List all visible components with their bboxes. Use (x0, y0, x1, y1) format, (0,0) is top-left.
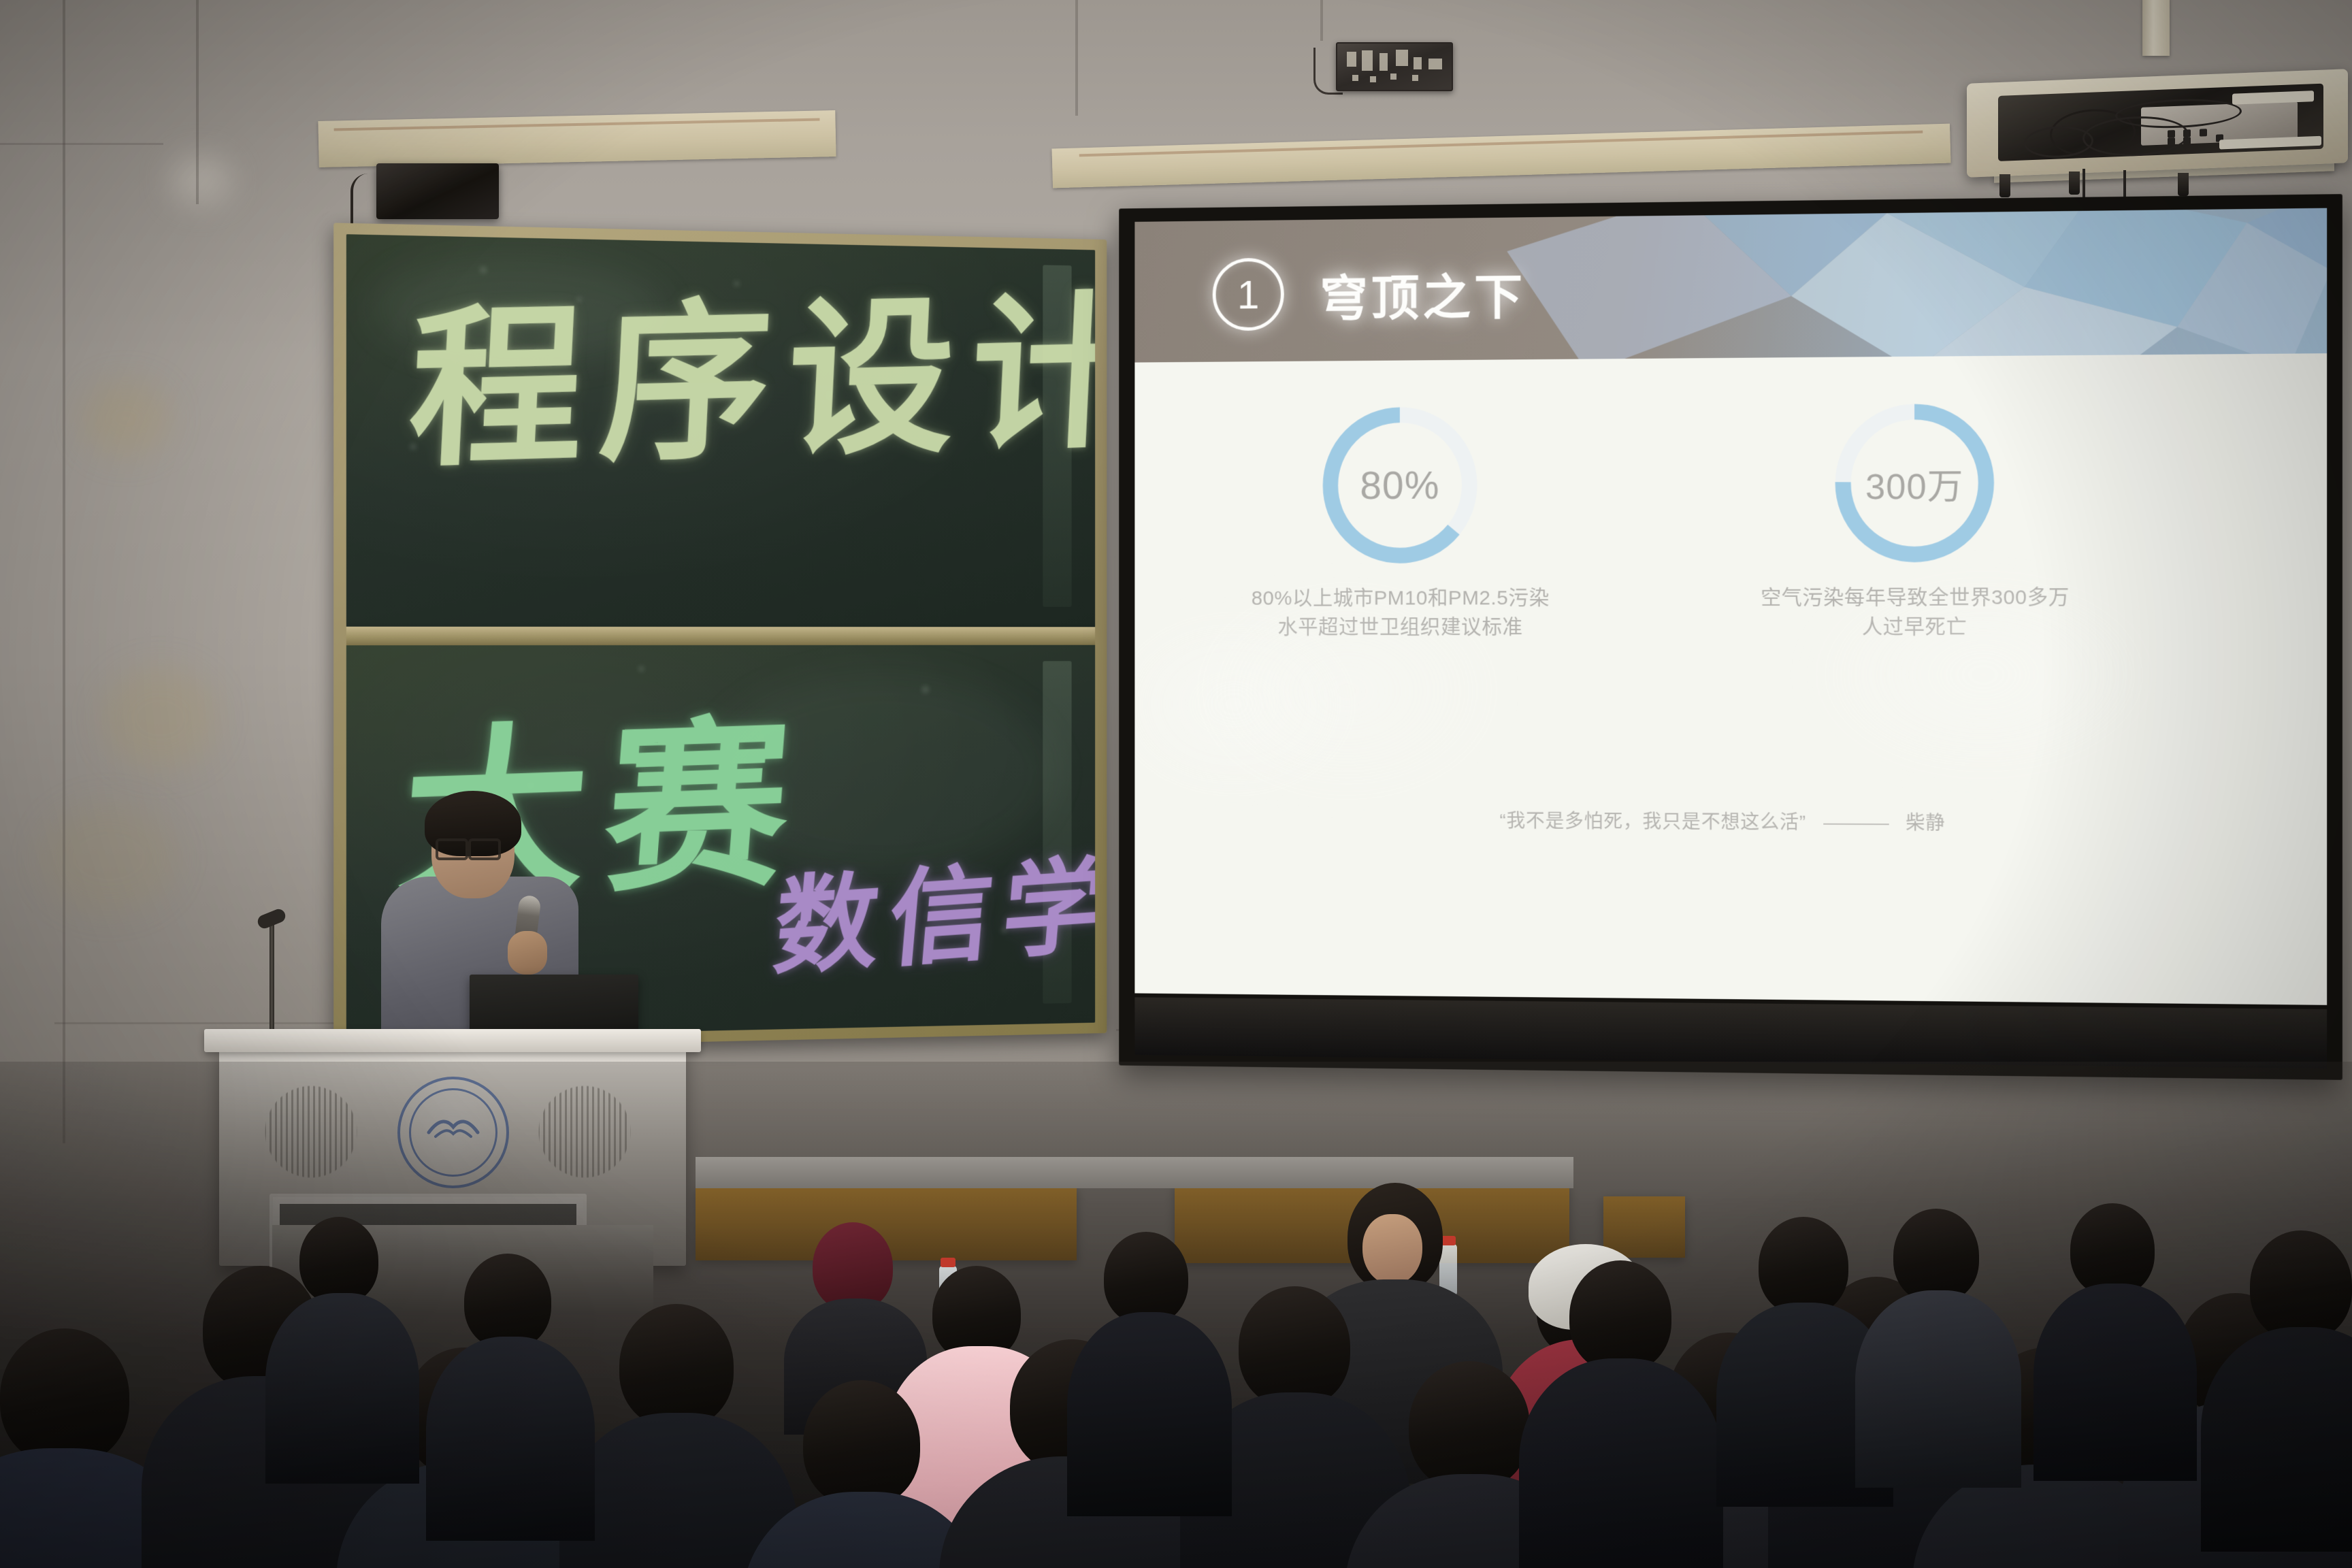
blackboard-text-line3: 数信学院 (770, 846, 1095, 982)
projector-foot (1999, 174, 2010, 197)
quote-dash (1823, 823, 1889, 824)
wall-control-box (1336, 42, 1453, 91)
stat-block: 80% 80%以上城市PM10和PM2.5污染水平超过世卫组织建议标准 (1214, 399, 1588, 642)
projector-foot (2178, 173, 2189, 196)
slide-header: 1 穹顶之下 (1134, 208, 2327, 363)
projector-cage (1967, 69, 2348, 178)
podium-top-surface (204, 1029, 701, 1052)
slide: 1 穹顶之下 80% 8 (1134, 208, 2327, 1005)
stat-block: 300万 空气污染每年导致全世界300多万人过早死亡 (1723, 396, 2108, 642)
presenter-glasses (436, 838, 468, 860)
donut-chart: 300万 (1829, 397, 2000, 568)
blackboard-text-line1: 程序设计 (406, 289, 1095, 477)
wall-speaker (376, 163, 499, 219)
projector-foot (2069, 171, 2080, 195)
projector-mount-pole (2142, 0, 2170, 56)
slide-title: 穹顶之下 (1320, 257, 1526, 329)
presenter-hand (508, 931, 547, 975)
blackboard-upper-panel: 程序设计 (346, 234, 1095, 627)
quote-attribution: 柴静 (1906, 812, 1945, 833)
slide-body: 80% 80%以上城市PM10和PM2.5污染水平超过世卫组织建议标准 300万 (1134, 353, 2327, 1005)
donut-value: 80% (1317, 400, 1484, 570)
stat-caption: 空气污染每年导致全世界300多万人过早死亡 (1754, 583, 2076, 642)
stat-caption: 80%以上城市PM10和PM2.5污染水平超过世卫组织建议标准 (1243, 584, 1557, 642)
presenter-glasses (468, 838, 501, 860)
slide-number-badge: 1 (1213, 258, 1284, 331)
projection-screen: 1 穹顶之下 80% 8 (1119, 194, 2342, 1080)
lecture-hall-photo: 程序设计 大赛 数信学院 (0, 0, 2352, 1568)
low-poly-decoration (1507, 208, 2327, 363)
quote-text: “我不是多怕死，我只是不想这么活” (1500, 810, 1807, 832)
slide-number: 1 (1237, 271, 1259, 317)
donut-chart: 80% (1317, 400, 1484, 570)
slide-quote: “我不是多怕死，我只是不想这么活” 柴静 (1134, 804, 2327, 838)
audience (0, 1062, 2352, 1568)
screen-lower-skirt (1134, 997, 2327, 1068)
donut-value: 300万 (1829, 397, 2000, 568)
blackboard-chalk-ledge (346, 627, 1095, 646)
